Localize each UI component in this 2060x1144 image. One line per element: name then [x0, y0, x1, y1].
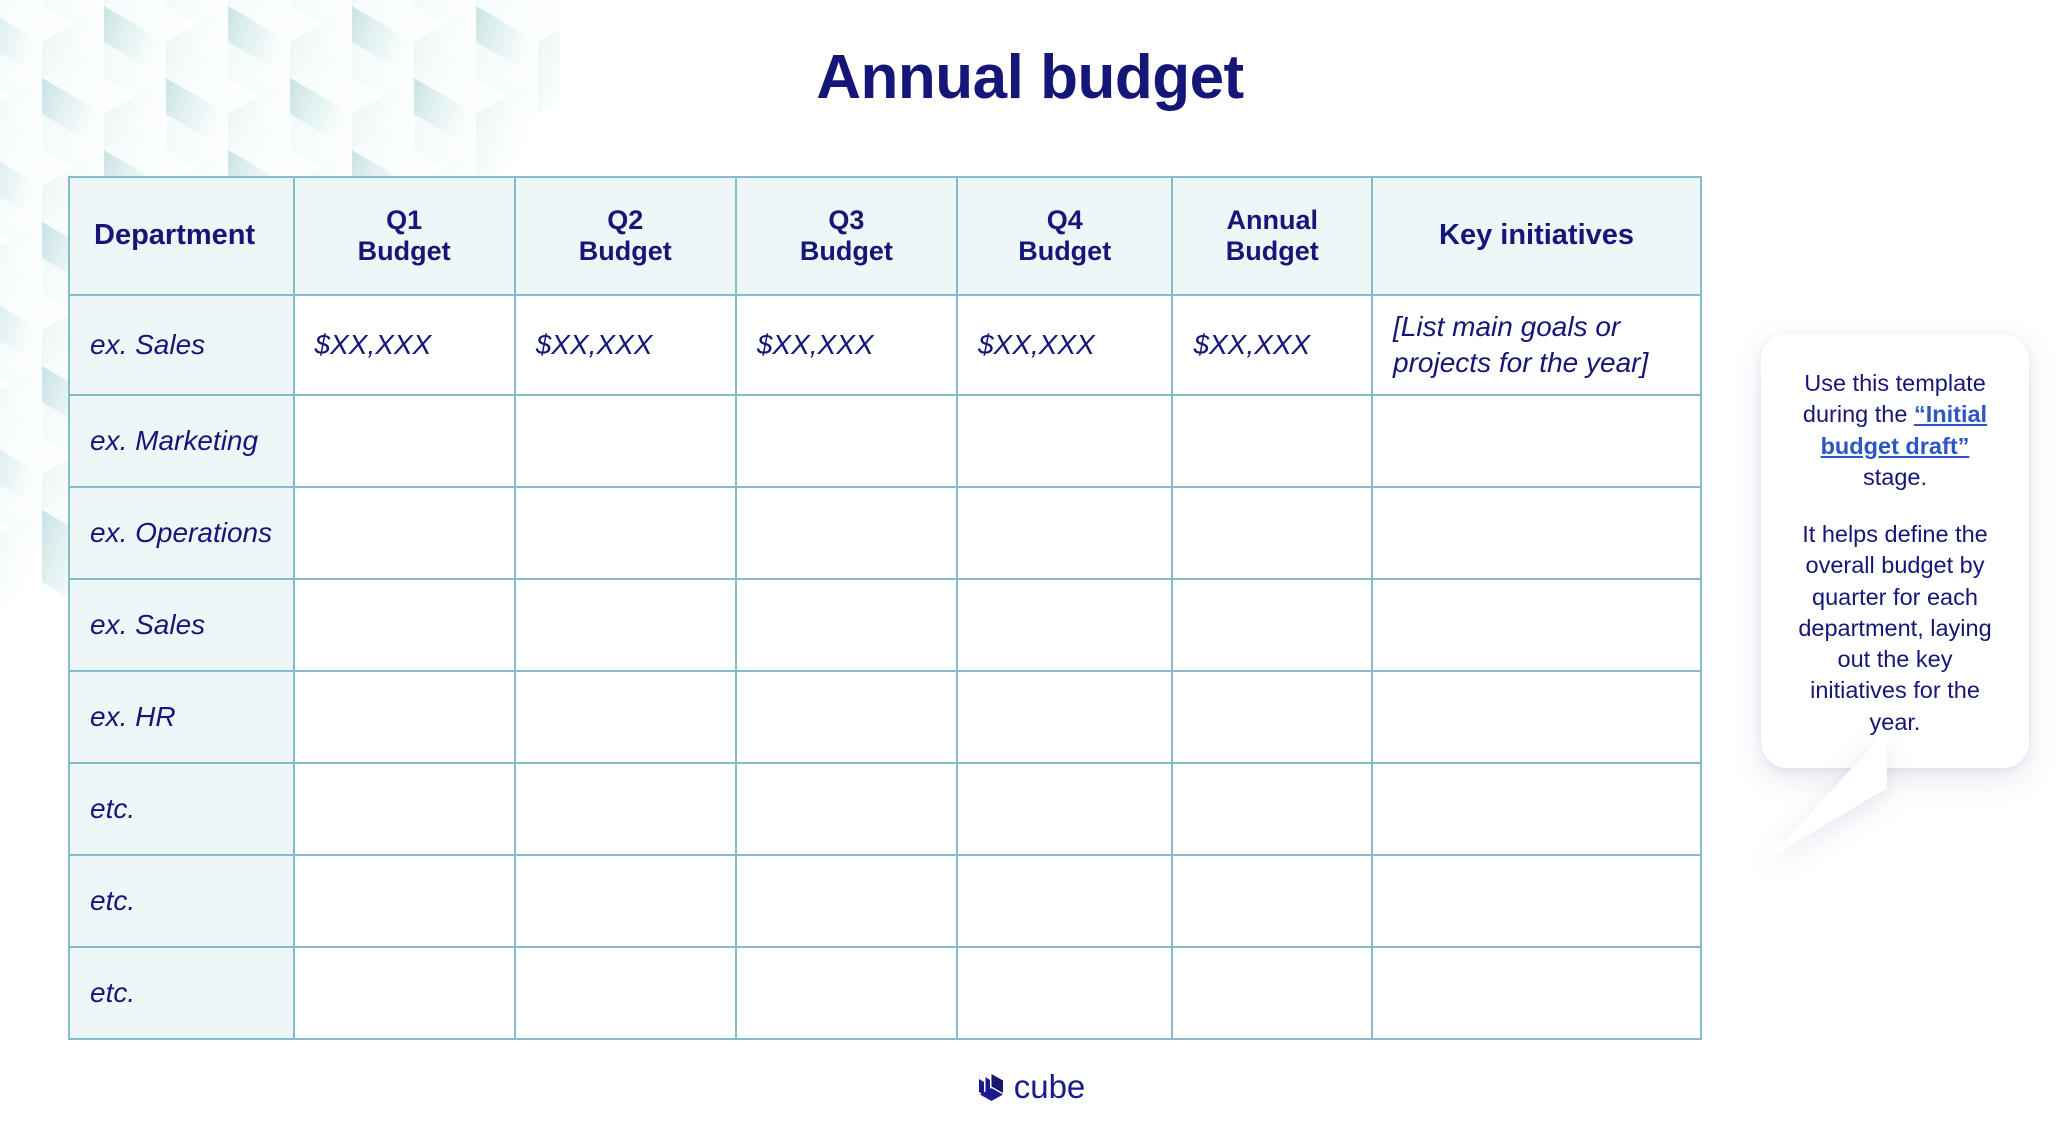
cell-q2-budget[interactable]: [515, 487, 736, 579]
cell-q3-budget[interactable]: [736, 763, 957, 855]
column-header-q4-budget: Q4 Budget: [957, 177, 1172, 295]
cell-annual-budget[interactable]: [1172, 855, 1372, 947]
cell-department[interactable]: etc.: [69, 947, 294, 1039]
cell-annual-budget[interactable]: [1172, 671, 1372, 763]
cell-q4-budget[interactable]: [957, 579, 1172, 671]
callout-body: Use this template during the “Initial bu…: [1761, 334, 2029, 768]
column-header-annual-line1: Annual: [1226, 205, 1318, 235]
cell-department[interactable]: etc.: [69, 855, 294, 947]
cell-key-initiatives[interactable]: [1372, 395, 1701, 487]
cell-department[interactable]: ex. Operations: [69, 487, 294, 579]
column-header-q2-line1: Q2: [607, 205, 643, 235]
cell-annual-budget[interactable]: [1172, 579, 1372, 671]
cell-q3-budget[interactable]: [736, 487, 957, 579]
cell-department[interactable]: etc.: [69, 763, 294, 855]
table-header-row: Department Q1 Budget Q2 Budget Q3 Budget…: [69, 177, 1701, 295]
cell-q4-budget[interactable]: [957, 763, 1172, 855]
cell-department[interactable]: ex. Marketing: [69, 395, 294, 487]
cell-q3-budget[interactable]: [736, 947, 957, 1039]
cell-annual-budget[interactable]: [1172, 395, 1372, 487]
cell-q1-budget[interactable]: [294, 579, 515, 671]
cell-q2-budget[interactable]: [515, 855, 736, 947]
cell-q3-budget[interactable]: [736, 395, 957, 487]
column-header-annual-budget: Annual Budget: [1172, 177, 1372, 295]
cell-q1-budget[interactable]: [294, 855, 515, 947]
cell-q3-budget[interactable]: [736, 579, 957, 671]
cube-logo-text: cube: [1014, 1068, 1086, 1106]
column-header-key-initiatives: Key initiatives: [1372, 177, 1701, 295]
cell-q1-budget[interactable]: [294, 947, 515, 1039]
callout-bubble: Use this template during the “Initial bu…: [1761, 334, 2029, 768]
page-title: Annual budget: [0, 42, 2060, 113]
column-header-q2-budget: Q2 Budget: [515, 177, 736, 295]
cell-q3-budget[interactable]: [736, 855, 957, 947]
cell-annual-budget[interactable]: [1172, 487, 1372, 579]
column-header-q1-line2: Budget: [358, 236, 451, 266]
cell-q1-budget[interactable]: [294, 395, 515, 487]
cell-department[interactable]: ex. Sales: [69, 579, 294, 671]
column-header-q4-line1: Q4: [1047, 205, 1083, 235]
table-row: ex. Operations: [69, 487, 1701, 579]
cell-annual-budget[interactable]: $XX,XXX: [1172, 295, 1372, 395]
column-header-q1-line1: Q1: [386, 205, 422, 235]
column-header-annual-line2: Budget: [1226, 236, 1319, 266]
cell-q4-budget[interactable]: [957, 947, 1172, 1039]
cube-icon: [975, 1071, 1005, 1103]
cell-key-initiatives[interactable]: [1372, 947, 1701, 1039]
cell-q4-budget[interactable]: [957, 487, 1172, 579]
column-header-q4-line2: Budget: [1018, 236, 1111, 266]
table-row: ex. Sales: [69, 579, 1701, 671]
column-header-q1-budget: Q1 Budget: [294, 177, 515, 295]
cell-q2-budget[interactable]: [515, 395, 736, 487]
table-row: ex. Marketing: [69, 395, 1701, 487]
annual-budget-table: Department Q1 Budget Q2 Budget Q3 Budget…: [68, 176, 1702, 1040]
cell-q3-budget[interactable]: [736, 671, 957, 763]
column-header-q3-line2: Budget: [800, 236, 893, 266]
cell-q2-budget[interactable]: [515, 671, 736, 763]
callout-paragraph-2: It helps define the overall budget by qu…: [1787, 519, 2003, 738]
cell-q2-budget[interactable]: [515, 579, 736, 671]
cell-key-initiatives[interactable]: [1372, 487, 1701, 579]
column-header-q2-line2: Budget: [579, 236, 672, 266]
cell-key-initiatives[interactable]: [1372, 579, 1701, 671]
cell-q2-budget[interactable]: $XX,XXX: [515, 295, 736, 395]
cell-q2-budget[interactable]: [515, 763, 736, 855]
cell-annual-budget[interactable]: [1172, 763, 1372, 855]
cell-q4-budget[interactable]: [957, 855, 1172, 947]
cell-q1-budget[interactable]: [294, 763, 515, 855]
cell-q4-budget[interactable]: $XX,XXX: [957, 295, 1172, 395]
table-row: etc.: [69, 947, 1701, 1039]
cell-q1-budget[interactable]: $XX,XXX: [294, 295, 515, 395]
callout-para1-after: stage.: [1863, 464, 1927, 490]
column-header-q3-budget: Q3 Budget: [736, 177, 957, 295]
cell-department[interactable]: ex. Sales: [69, 295, 294, 395]
cell-annual-budget[interactable]: [1172, 947, 1372, 1039]
column-header-q3-line1: Q3: [828, 205, 864, 235]
footer-logo: cube: [0, 1068, 2060, 1106]
cell-q1-budget[interactable]: [294, 671, 515, 763]
callout-tail: [1769, 730, 1899, 860]
cell-department[interactable]: ex. HR: [69, 671, 294, 763]
cell-key-initiatives[interactable]: [1372, 855, 1701, 947]
column-header-department-label: Department: [94, 219, 255, 251]
cell-key-initiatives[interactable]: [1372, 763, 1701, 855]
table-row: etc.: [69, 763, 1701, 855]
cell-key-initiatives[interactable]: [1372, 671, 1701, 763]
table-row: ex. Sales $XX,XXX $XX,XXX $XX,XXX $XX,XX…: [69, 295, 1701, 395]
cell-q2-budget[interactable]: [515, 947, 736, 1039]
cell-q1-budget[interactable]: [294, 487, 515, 579]
cell-q4-budget[interactable]: [957, 671, 1172, 763]
cell-q3-budget[interactable]: $XX,XXX: [736, 295, 957, 395]
cell-key-initiatives[interactable]: [List main goals or projects for the yea…: [1372, 295, 1701, 395]
column-header-key-initiatives-label: Key initiatives: [1439, 219, 1634, 251]
callout-paragraph-1: Use this template during the “Initial bu…: [1787, 368, 2003, 493]
cell-q4-budget[interactable]: [957, 395, 1172, 487]
table-row: etc.: [69, 855, 1701, 947]
table-row: ex. HR: [69, 671, 1701, 763]
column-header-department: Department: [69, 177, 294, 295]
